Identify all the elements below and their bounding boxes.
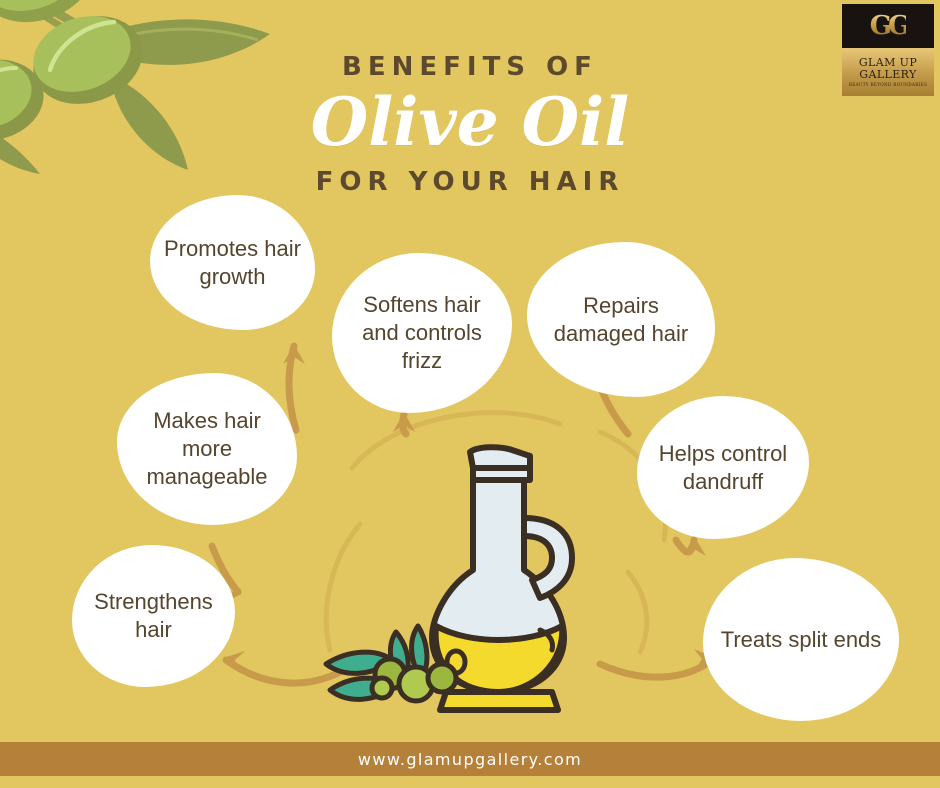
footer-bar: www.glamupgallery.com [0,742,940,776]
brand-logo[interactable]: GG GLAM UP GALLERY BEAUTY BEYOND BOUNDAR… [842,4,934,96]
logo-monogram: GG [870,11,906,41]
arrow-to-promotes-growth [289,346,296,430]
benefit-strengthens-hair: Strengthens hair [72,545,235,687]
logo-name-panel: GLAM UP GALLERY BEAUTY BEYOND BOUNDARIES [842,48,934,96]
arrow-to-softens-hair [403,414,406,434]
infographic-canvas: BENEFITS OF Olive Oil FOR YOUR HAIR GG G… [0,0,940,788]
page-title: Olive Oil [0,88,940,157]
header-subkicker: FOR YOUR HAIR [0,167,940,197]
benefit-softens-hair: Softens hair and controls frizz [332,253,512,413]
logo-tagline: BEAUTY BEYOND BOUNDARIES [849,82,927,87]
arrow-to-split-ends [600,660,712,677]
benefit-promotes-hair-growth: Promotes hair growth [150,195,315,330]
benefit-repairs-damaged-hair: Repairs damaged hair [527,242,715,397]
logo-monogram-panel: GG [842,4,934,48]
benefit-makes-hair-manageable: Makes hair more manageable [117,373,297,525]
header-kicker: BENEFITS OF [0,52,940,82]
olive-oil-bottle-illustration [400,430,640,720]
arrow-to-dandruff [676,540,694,552]
olive-sprig-decoration [318,612,468,717]
logo-name-line1: GLAM UP [859,57,917,68]
benefit-treats-split-ends: Treats split ends [703,558,899,721]
benefit-helps-control-dandruff: Helps control dandruff [637,396,809,539]
logo-name-line2: GALLERY [859,69,916,80]
arrow-to-strengthens [226,660,340,683]
header-block: BENEFITS OF Olive Oil FOR YOUR HAIR [0,52,940,197]
footer-website-url[interactable]: www.glamupgallery.com [358,750,582,769]
